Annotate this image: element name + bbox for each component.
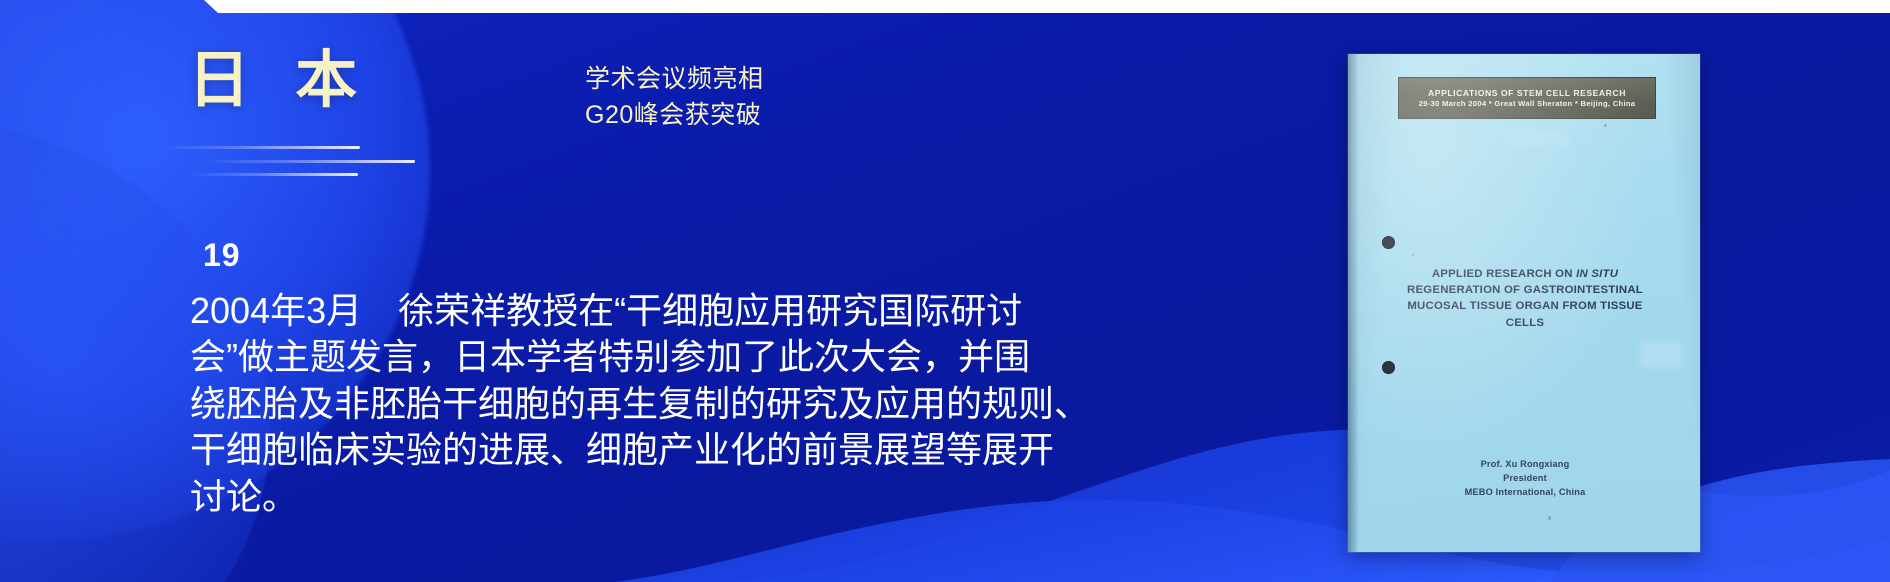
banner-subtitle: 29-30 March 2004 * Great Wall Sheraton *…: [1419, 99, 1636, 108]
author-role: President: [1380, 472, 1670, 486]
title-underline-rules: [130, 140, 440, 182]
paper-title-block: APPLIED RESEARCH ON IN SITU REGENERATION…: [1380, 266, 1670, 331]
paper-title-line-1-pre: APPLIED RESEARCH ON: [1432, 268, 1576, 280]
subtitle-line-1: 学术会议频亮相: [585, 62, 764, 98]
conference-paper-photo: APPLICATIONS OF STEM CELL RESEARCH 29-30…: [1348, 54, 1700, 552]
paper-smudge: [1508, 130, 1568, 146]
conference-banner: APPLICATIONS OF STEM CELL RESEARCH 29-30…: [1398, 77, 1656, 119]
body-line-4: 干细胞临床实验的进展、细胞产业化的前景展望等展开: [190, 427, 1145, 473]
author-organization: MEBO International, China: [1380, 486, 1670, 500]
paper-speck: [1604, 124, 1607, 127]
author-name: Prof. Xu Rongxiang: [1380, 458, 1670, 472]
body-line-5: 讨论。: [190, 474, 1145, 520]
hole-punch-icon-bottom: [1382, 361, 1395, 374]
paper-speck: [1548, 516, 1551, 520]
body-line-2: 会”做主题发言，日本学者特别参加了此次大会，并围: [190, 334, 1145, 380]
paper-title-line-2: REGENERATION OF GASTROINTESTINAL: [1407, 284, 1643, 296]
paper-title-line-4: CELLS: [1506, 317, 1544, 329]
slide-canvas: 日 本 学术会议频亮相 G20峰会获突破 19 2004年3月 徐荣祥教授在“干…: [0, 0, 1890, 582]
body-line-1: 2004年3月 徐荣祥教授在“干细胞应用研究国际研讨: [190, 288, 1145, 334]
paper-smudge: [1640, 342, 1682, 368]
subtitle-block: 学术会议频亮相 G20峰会获突破: [585, 62, 764, 133]
banner-title: APPLICATIONS OF STEM CELL RESEARCH: [1428, 88, 1626, 99]
country-title: 日 本: [188, 48, 371, 113]
body-paragraph: 2004年3月 徐荣祥教授在“干细胞应用研究国际研讨 会”做主题发言，日本学者特…: [190, 288, 1145, 520]
paper-title-line-1-italic: IN SITU: [1576, 268, 1618, 280]
paper-left-edge-shadow: [1348, 54, 1359, 552]
rule-line-3: [188, 173, 358, 176]
rule-line-1: [160, 146, 360, 149]
subtitle-line-2: G20峰会获突破: [585, 98, 764, 134]
top-white-strip: [218, 0, 1890, 13]
paper-author-block: Prof. Xu Rongxiang President MEBO Intern…: [1380, 458, 1670, 499]
paper-speck: [1412, 254, 1414, 256]
paper-title-line-3: MUCOSAL TISSUE ORGAN FROM TISSUE: [1407, 300, 1642, 312]
sequence-number: 19: [203, 237, 241, 274]
hole-punch-icon-top: [1382, 236, 1395, 249]
body-line-3: 绕胚胎及非胚胎干细胞的再生复制的研究及应用的规则、: [190, 381, 1145, 427]
rule-line-2: [200, 160, 415, 163]
